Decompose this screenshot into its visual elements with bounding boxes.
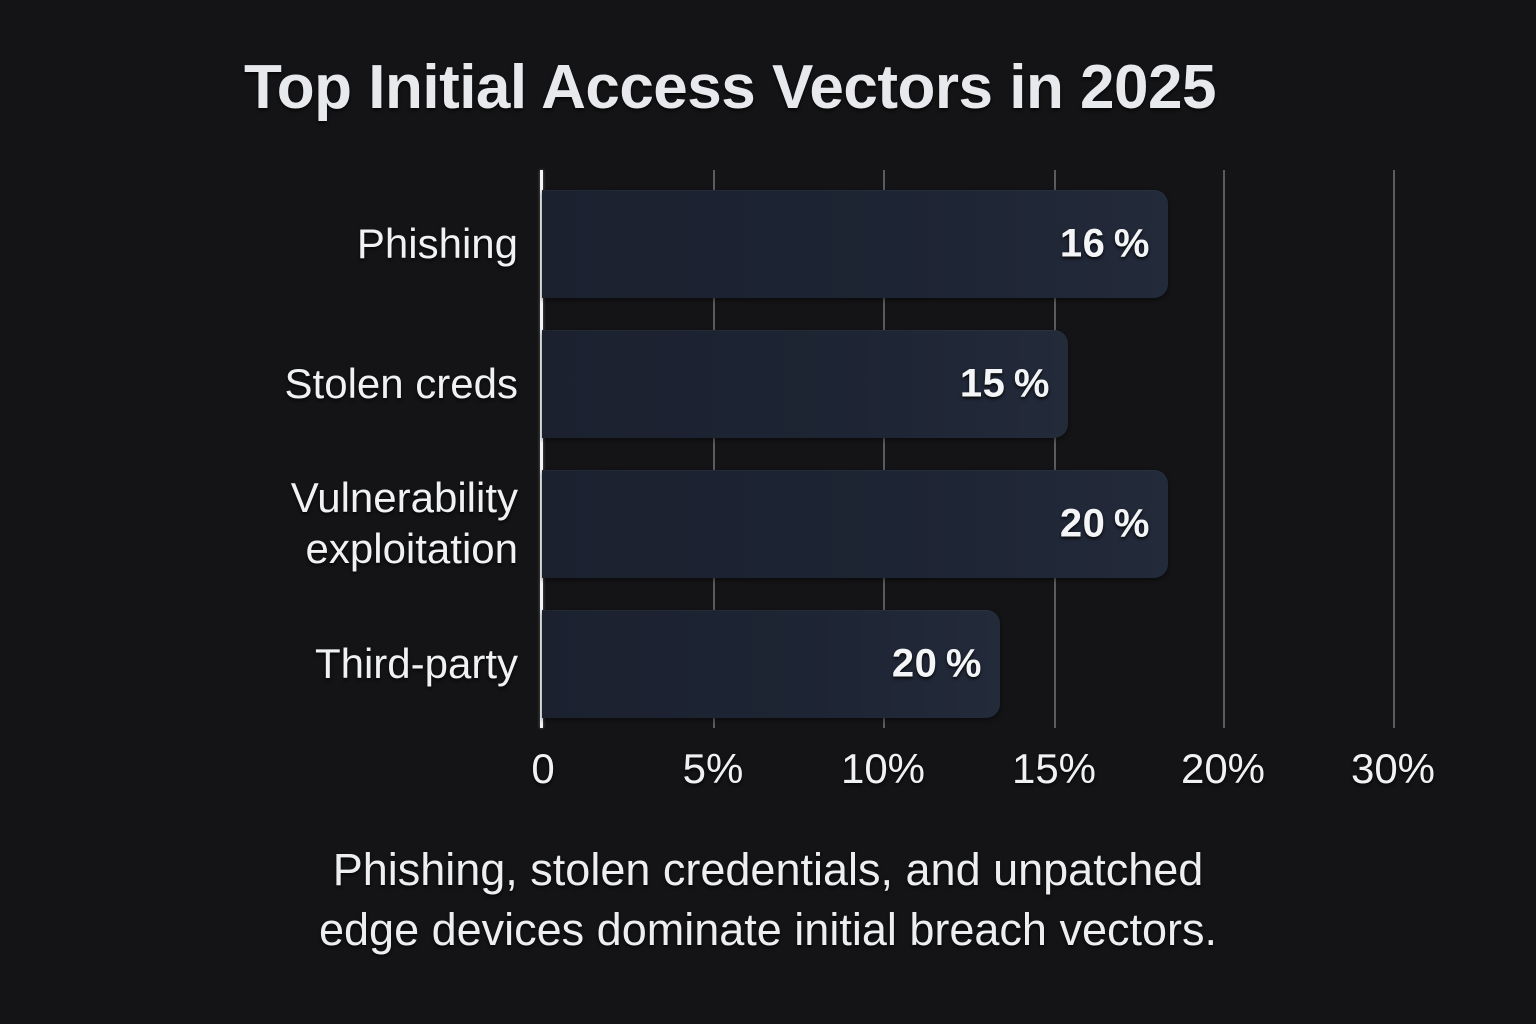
x-tick-label: 20% — [1181, 745, 1265, 793]
bar-value-label: 16 % — [1060, 222, 1150, 267]
bar-row: 15 % — [542, 330, 1412, 438]
category-label: Vulnerability exploitation — [291, 473, 518, 575]
bar-row: 20 % — [542, 610, 1412, 718]
x-tick-label: 30% — [1351, 745, 1435, 793]
category-label: Phishing — [357, 219, 518, 270]
category-label: Third-party — [315, 639, 518, 690]
chart-canvas: Top Initial Access Vectors in 2025 16 %1… — [0, 0, 1536, 1024]
x-tick-label: 15% — [1012, 745, 1096, 793]
chart-title: Top Initial Access Vectors in 2025 — [244, 52, 1344, 123]
x-tick-label: 5% — [683, 745, 744, 793]
bar-value-label: 20 % — [892, 642, 982, 687]
bar-row: 16 % — [542, 190, 1412, 298]
x-tick-label: 0 — [531, 745, 554, 793]
bar-value-label: 20 % — [1060, 502, 1150, 547]
bar-value-label: 15 % — [960, 362, 1050, 407]
x-tick-label: 10% — [841, 745, 925, 793]
chart-subtitle: Phishing, stolen credentials, and unpatc… — [0, 840, 1536, 960]
category-label: Stolen creds — [285, 359, 518, 410]
bar-row: 20 % — [542, 470, 1412, 578]
